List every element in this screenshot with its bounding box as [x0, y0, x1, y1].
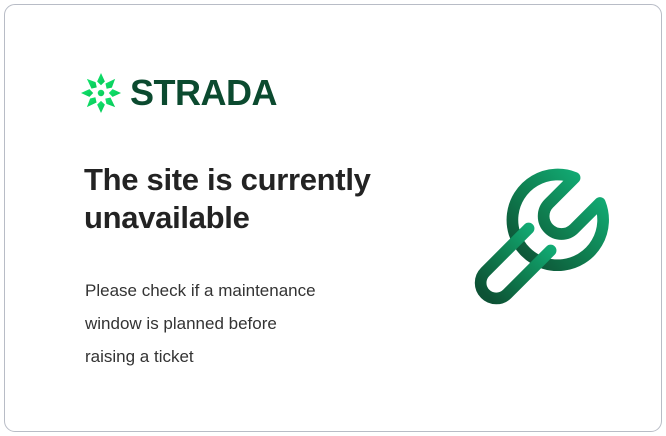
- brand-lockup: STRADA: [81, 73, 277, 113]
- brand-wordmark: STRADA: [130, 75, 277, 111]
- description-line: window is planned before: [85, 307, 395, 340]
- wrench-icon: [457, 157, 619, 319]
- page-description: Please check if a maintenance window is …: [85, 274, 395, 373]
- status-card: STRADA The site is currently unavailable…: [4, 4, 662, 432]
- description-line: raising a ticket: [85, 340, 395, 373]
- strada-asterisk-icon: [81, 73, 121, 113]
- description-line: Please check if a maintenance: [85, 274, 395, 307]
- page-title: The site is currently unavailable: [84, 161, 424, 237]
- error-page: STRADA The site is currently unavailable…: [0, 0, 666, 436]
